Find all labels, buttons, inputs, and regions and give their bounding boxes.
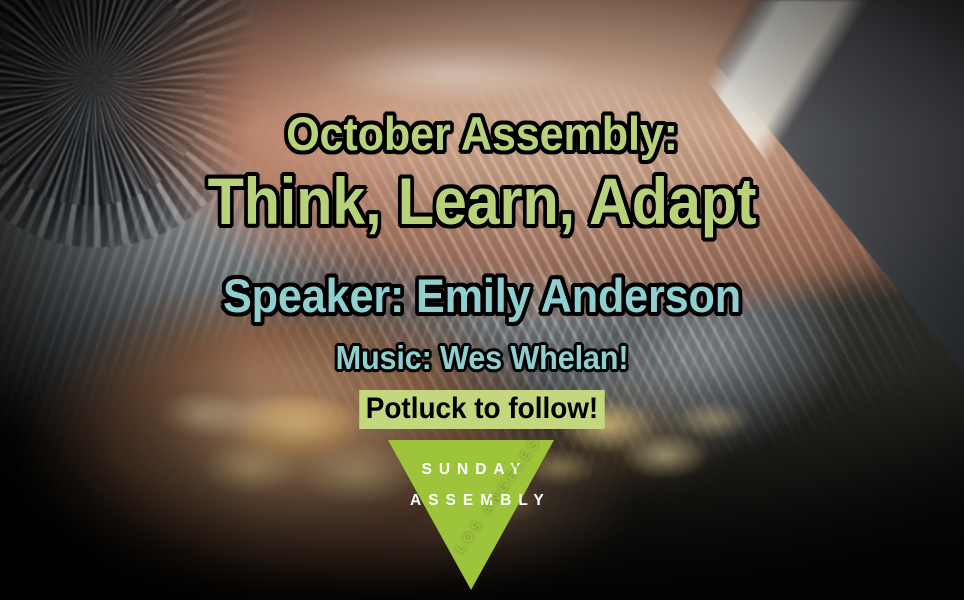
eyebrow-text: October Assembly: <box>39 110 926 157</box>
potluck-badge: Potluck to follow! <box>359 390 605 429</box>
potluck-line: Potluck to follow! <box>0 390 964 429</box>
event-poster: October Assembly: Think, Learn, Adapt Sp… <box>0 0 964 600</box>
page-title: Think, Learn, Adapt <box>48 168 916 234</box>
sunday-assembly-logo[interactable]: SUNDAY ASSEMBLY LOS ANGELES <box>388 440 554 590</box>
music-line: Music: Wes Whelan! <box>34 341 931 374</box>
speaker-line: Speaker: Emily Anderson <box>39 272 926 319</box>
